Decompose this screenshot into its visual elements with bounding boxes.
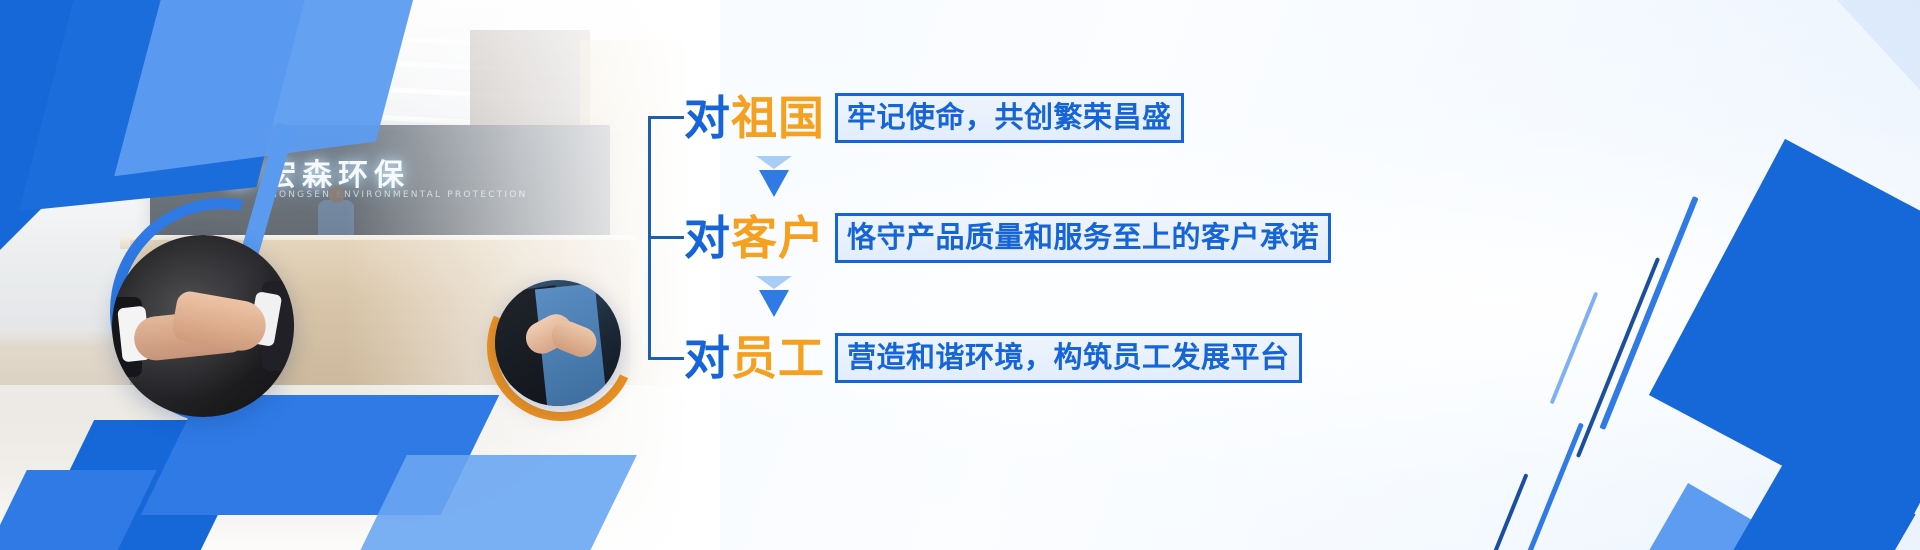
down-arrow-icon-1 xyxy=(754,156,794,200)
corporate-values-banner: 宏森环保 HONGSEN ENVIRONMENTAL PROTECTION xyxy=(0,0,1920,550)
value-heading-customer: 对客户 xyxy=(684,215,825,261)
down-arrow-icon-2 xyxy=(754,276,794,320)
heading-key-employee: 员工 xyxy=(731,335,825,381)
decor-right-triangle-top xyxy=(1800,0,1920,90)
value-description-employee: 营造和谐环境，构筑员工发展平台 xyxy=(835,333,1302,383)
heading-key-country: 祖国 xyxy=(731,95,825,141)
value-row-employee: 对员工 营造和谐环境，构筑员工发展平台 xyxy=(684,330,1302,386)
bracket-middle-tick xyxy=(648,236,684,239)
heading-prefix-country: 对 xyxy=(684,95,731,141)
handshake-photo xyxy=(112,235,294,417)
value-description-customer: 恪守产品质量和服务至上的客户承诺 xyxy=(835,213,1331,263)
value-description-country: 牢记使命，共创繁荣昌盛 xyxy=(835,93,1184,143)
value-heading-employee: 对员工 xyxy=(684,335,825,381)
heading-key-customer: 客户 xyxy=(731,215,825,261)
value-row-country: 对祖国 牢记使命，共创繁荣昌盛 xyxy=(684,90,1184,146)
values-content: 对祖国 牢记使命，共创繁荣昌盛 对客户 恪守产品质量和服务至上的客户承诺 对员工… xyxy=(648,78,1408,398)
value-row-customer: 对客户 恪守产品质量和服务至上的客户承诺 xyxy=(684,210,1331,266)
heading-prefix-customer: 对 xyxy=(684,215,731,261)
value-heading-country: 对祖国 xyxy=(684,95,825,141)
applause-photo xyxy=(495,280,621,406)
heading-prefix-employee: 对 xyxy=(684,335,731,381)
